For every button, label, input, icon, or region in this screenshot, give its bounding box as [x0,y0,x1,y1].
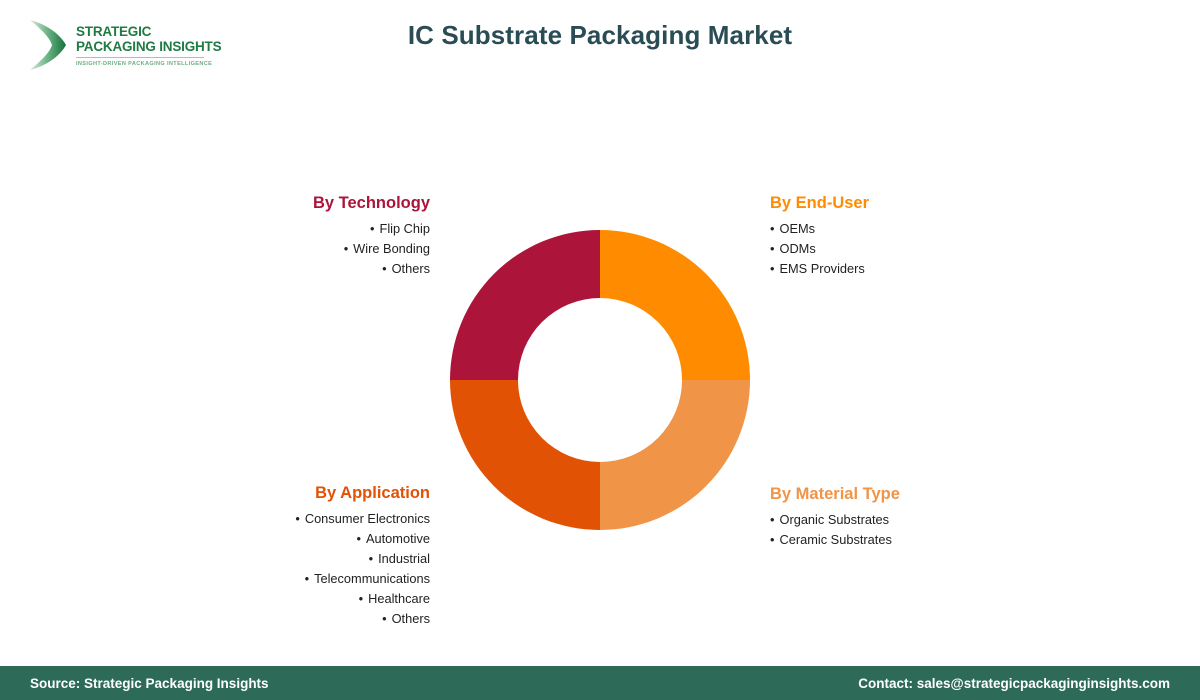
segment-application-heading: By Application [130,484,430,503]
segment-application: By Application Consumer Electronics Auto… [130,484,430,629]
segment-technology-heading: By Technology [150,194,430,213]
list-item: Others [150,259,430,279]
segment-technology-list: Flip Chip Wire Bonding Others [150,219,430,279]
list-item: EMS Providers [770,259,1070,279]
donut-chart [450,230,750,530]
market-segmentation-infographic: STRATEGIC PACKAGING INSIGHTS INSIGHT-DRI… [0,0,1200,700]
list-item: Organic Substrates [770,510,1070,530]
list-item: Wire Bonding [150,239,430,259]
logo-tagline: INSIGHT-DRIVEN PACKAGING INTELLIGENCE [76,61,221,67]
list-item: ODMs [770,239,1070,259]
segment-material-type: By Material Type Organic Substrates Cera… [770,485,1070,550]
footer-contact: Contact: sales@strategicpackaginginsight… [858,676,1170,691]
list-item: Consumer Electronics [130,509,430,529]
list-item: Flip Chip [150,219,430,239]
logo-divider [76,57,204,58]
footer-source: Source: Strategic Packaging Insights [30,676,269,691]
donut-slice-technology [450,230,600,380]
list-item: Telecommunications [130,569,430,589]
list-item: Automotive [130,529,430,549]
list-item: Industrial [130,549,430,569]
list-item: Healthcare [130,589,430,609]
segment-end-user-heading: By End-User [770,194,1070,213]
donut-slice-end-user [600,230,750,380]
segment-application-list: Consumer Electronics Automotive Industri… [130,509,430,629]
segment-end-user: By End-User OEMs ODMs EMS Providers [770,194,1070,279]
page-title: IC Substrate Packaging Market [0,20,1200,51]
segment-material-type-list: Organic Substrates Ceramic Substrates [770,510,1070,550]
list-item: Ceramic Substrates [770,530,1070,550]
segment-end-user-list: OEMs ODMs EMS Providers [770,219,1070,279]
list-item: OEMs [770,219,1070,239]
footer-bar: Source: Strategic Packaging Insights Con… [0,666,1200,700]
donut-slice-material-type [600,380,750,530]
list-item: Others [130,609,430,629]
segment-technology: By Technology Flip Chip Wire Bonding Oth… [150,194,430,279]
segment-material-type-heading: By Material Type [770,485,1070,504]
donut-slice-application [450,380,600,530]
